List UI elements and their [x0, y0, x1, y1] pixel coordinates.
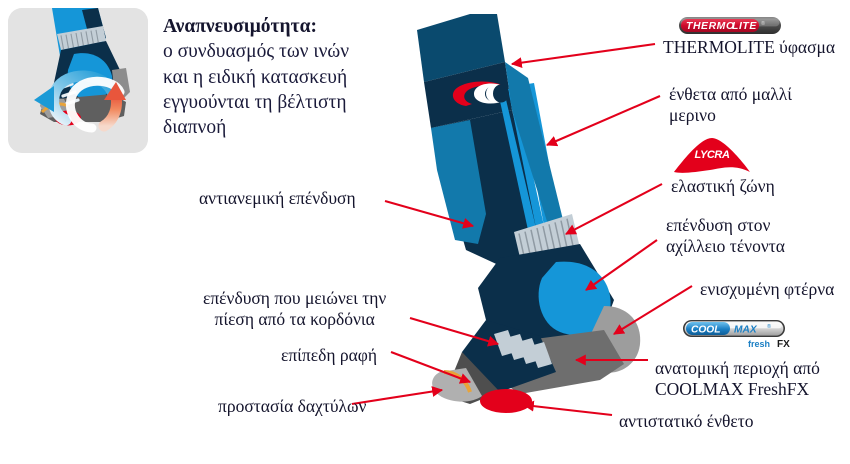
headline-block: Αναπνευσιμότητα: ο συνδυασμός των ινών κ… [163, 14, 403, 141]
lycra-word: LYCRA [694, 149, 730, 161]
sock-heel-reinforced [588, 306, 640, 373]
callout-elastic-band: ελαστική ζώνη [671, 176, 775, 197]
thermolite-word-b: LITE [732, 21, 757, 32]
breathability-illustration [8, 8, 148, 153]
sock-elastic-band [514, 214, 580, 266]
diagram-canvas: Αναπνευσιμότητα: ο συνδυασμός των ινών κ… [0, 0, 850, 464]
sock-toe-dark [444, 352, 500, 404]
callout-toe-protection: προστασία δαχτύλων [218, 396, 366, 417]
arrow-achilles-padding [586, 240, 657, 290]
thermolite-logo: THERMO LITE ® [678, 14, 782, 38]
sock-achilles-pad [539, 262, 611, 335]
arrow-reinforced-heel [614, 286, 692, 334]
thermolite-word-a: THERMO [686, 21, 735, 32]
arrow-windproof-lining [385, 201, 473, 226]
sock-leg-navy [431, 110, 548, 268]
coolmax-registered: ® [767, 323, 771, 330]
sock-windproof-panel [431, 120, 486, 244]
coolmax-sub-fresh: fresh [748, 339, 770, 349]
sock-foot-top [462, 320, 556, 392]
sock-leg-edge [505, 62, 568, 250]
sock-merino-stripes [498, 83, 560, 230]
callout-reinforced-heel: ενισχυμένη φτέρνα [700, 279, 834, 300]
coolmax-logo: COOL MAX ® fresh FX [682, 318, 794, 354]
brand-c-mark [453, 82, 509, 107]
callout-windproof-lining: αντιανεμική επένδυση [199, 188, 356, 209]
sock-cuff [417, 14, 505, 82]
thermolite-registered: ® [761, 20, 765, 27]
sock-coolmax-sole [496, 330, 624, 394]
arrow-lace-pressure-padding [410, 318, 498, 344]
sock-antistatic-insert [480, 389, 532, 413]
coolmax-word-a: COOL [691, 324, 720, 335]
arrow-flat-seam [391, 352, 470, 382]
callout-coolmax-zone: ανατομική περιοχή από COOLMAX FreshFX [655, 358, 820, 401]
arrow-elastic-band [566, 184, 662, 234]
headline-body: ο συνδυασμός των ινών και η ειδική κατασ… [163, 39, 403, 140]
lycra-logo: LYCRA [672, 136, 752, 180]
callout-thermolite-fabric: THERMOLITE ύφασμα [663, 37, 835, 58]
breathability-thumbnail [8, 8, 148, 153]
headline-title: Αναπνευσιμότητα: [163, 14, 403, 39]
coolmax-sub-fx: FX [777, 339, 790, 350]
sock-ankle-navy [478, 244, 614, 344]
callout-antistatic-insert: αντιστατικό ένθετο [619, 411, 754, 432]
callout-achilles-padding: επένδυση στον αχίλλειο τένοντα [666, 215, 785, 258]
coolmax-word-b: MAX [734, 324, 758, 335]
sock-orange-seam [444, 372, 470, 392]
callout-lace-pressure-padding: επένδυση που μειώνει την πίεση από τα κο… [203, 288, 386, 331]
arrow-antistatic-insert [524, 405, 612, 415]
callout-flat-seam: επίπεδη ραφή [281, 345, 377, 366]
sock-toe-protection [432, 368, 482, 402]
sock-flat-seams [494, 330, 552, 368]
sock-logo-band [424, 62, 512, 128]
arrow-merino-inserts [547, 96, 660, 145]
callout-merino-inserts: ένθετα από μαλλί μερινο [669, 84, 792, 127]
arrow-thermolite-fabric [512, 44, 655, 64]
